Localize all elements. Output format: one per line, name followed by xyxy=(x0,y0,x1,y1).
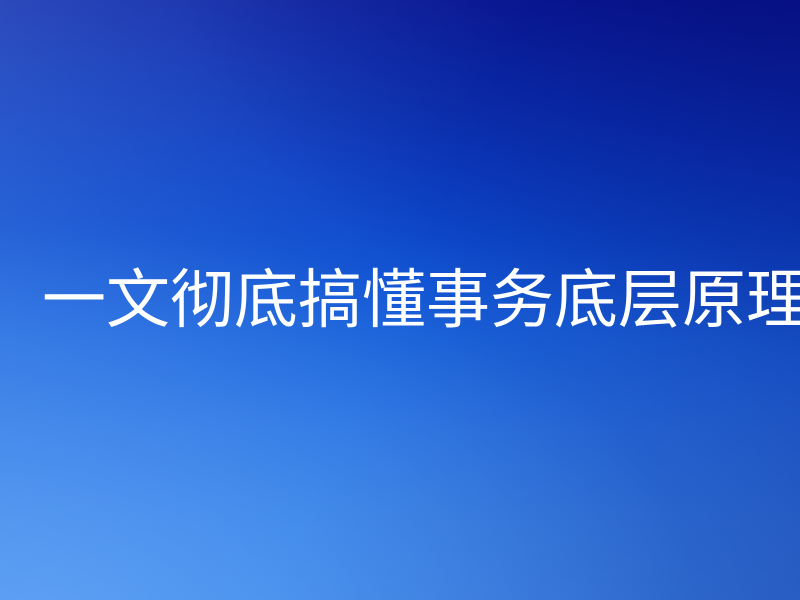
title-layer: 一文彻底搞懂事务底层原理 xyxy=(0,0,800,600)
title-slide: 一文彻底搞懂事务底层原理 xyxy=(0,0,800,600)
slide-title: 一文彻底搞懂事务底层原理 xyxy=(0,268,800,332)
